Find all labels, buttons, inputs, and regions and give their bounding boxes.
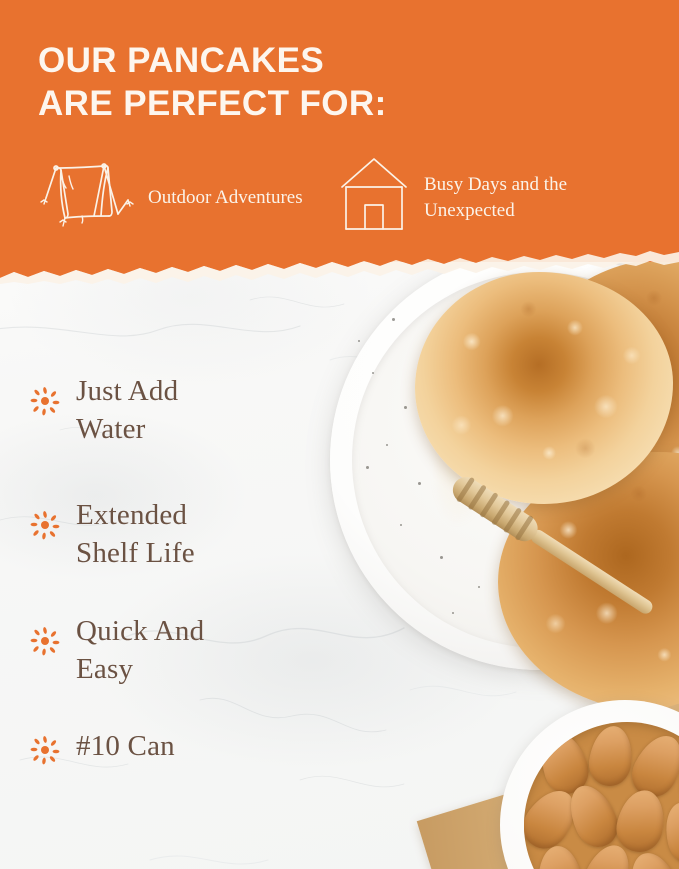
plate-speck <box>366 466 369 469</box>
benefit-label: Outdoor Adventures <box>148 185 303 210</box>
benefits-row: Outdoor Adventures Busy Days and the Une… <box>38 155 648 240</box>
benefit-outdoor-adventures: Outdoor Adventures <box>38 156 338 239</box>
plate-speck <box>386 444 388 446</box>
list-item: Quick And Easy <box>30 612 204 689</box>
list-item-label: Quick And Easy <box>76 612 204 689</box>
plate-speck <box>392 318 395 321</box>
plate-speck <box>372 372 374 374</box>
page-title: OUR PANCAKES ARE PERFECT FOR: <box>38 40 598 125</box>
sunburst-bullet-icon <box>30 735 60 770</box>
sunburst-bullet-icon <box>30 510 60 545</box>
headline-line-2: ARE PERFECT FOR: <box>38 83 598 126</box>
list-item: #10 Can <box>30 727 175 770</box>
sunburst-bullet-icon <box>30 626 60 661</box>
almond <box>586 723 636 788</box>
headline-line-1: OUR PANCAKES <box>38 41 324 80</box>
house-icon <box>338 155 410 240</box>
list-item-label: Just Add Water <box>76 372 178 449</box>
list-item: Just Add Water <box>30 372 178 449</box>
sunburst-bullet-icon <box>30 386 60 421</box>
product-infographic: OUR PANCAKES ARE PERFECT FOR: <box>0 0 679 869</box>
list-item-label: Extended Shelf Life <box>76 496 195 573</box>
almond-bowl-interior <box>524 722 679 869</box>
benefit-label: Busy Days and the Unexpected <box>424 172 614 222</box>
tent-icon <box>38 156 134 239</box>
benefit-busy-days: Busy Days and the Unexpected <box>338 155 614 240</box>
list-item: Extended Shelf Life <box>30 496 195 573</box>
list-item-label: #10 Can <box>76 727 175 765</box>
almond <box>673 860 679 869</box>
plate-speck <box>452 612 454 614</box>
pancake-top <box>415 272 673 504</box>
almond <box>612 786 670 856</box>
plate-speck <box>358 340 360 342</box>
